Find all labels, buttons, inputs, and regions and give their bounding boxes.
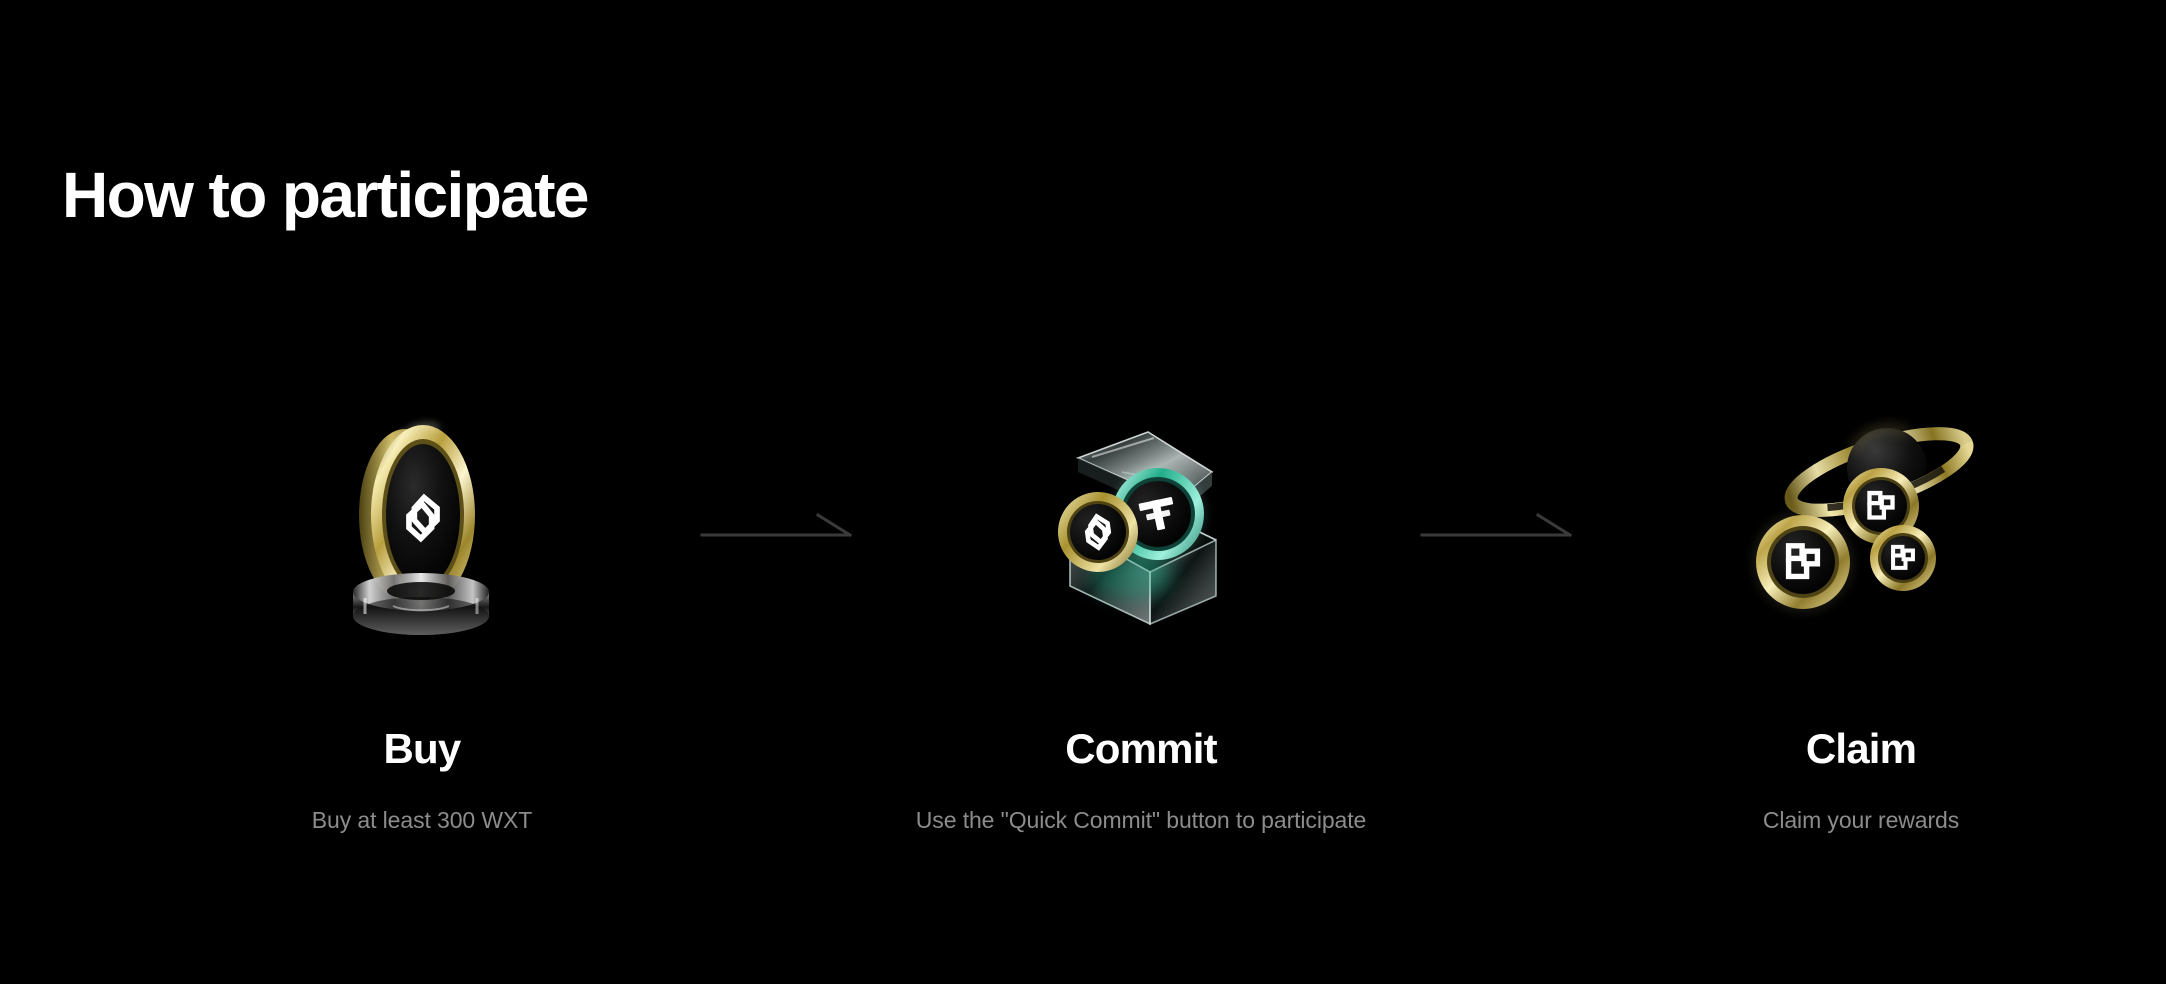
participation-steps-row: Buy Buy at least 300 WXT — [0, 400, 2166, 880]
step-claim-title: Claim — [1626, 728, 2096, 770]
step-commit-illustration — [906, 400, 1376, 650]
step-commit: Commit Use the "Quick Commit" button to … — [906, 400, 1376, 835]
step-buy-title: Buy — [187, 728, 657, 770]
step-buy: Buy Buy at least 300 WXT — [187, 400, 657, 835]
step-commit-title: Commit — [906, 728, 1376, 770]
step-claim: Claim Claim your rewards — [1626, 400, 2096, 835]
ringed-gold-reward-coins-illustration — [1741, 410, 1981, 640]
step-claim-description: Claim your rewards — [1626, 806, 2096, 835]
step-buy-illustration — [187, 400, 657, 650]
glass-treasure-chest-with-coins-illustration — [1026, 410, 1256, 640]
page-title: How to participate — [62, 160, 588, 230]
how-to-participate-section: How to participate — [0, 0, 2166, 984]
step-commit-description: Use the "Quick Commit" button to partici… — [906, 806, 1376, 835]
wxt-coin-on-pedestal-illustration — [307, 410, 537, 640]
step-buy-description: Buy at least 300 WXT — [187, 806, 657, 835]
step-claim-illustration — [1626, 400, 2096, 650]
